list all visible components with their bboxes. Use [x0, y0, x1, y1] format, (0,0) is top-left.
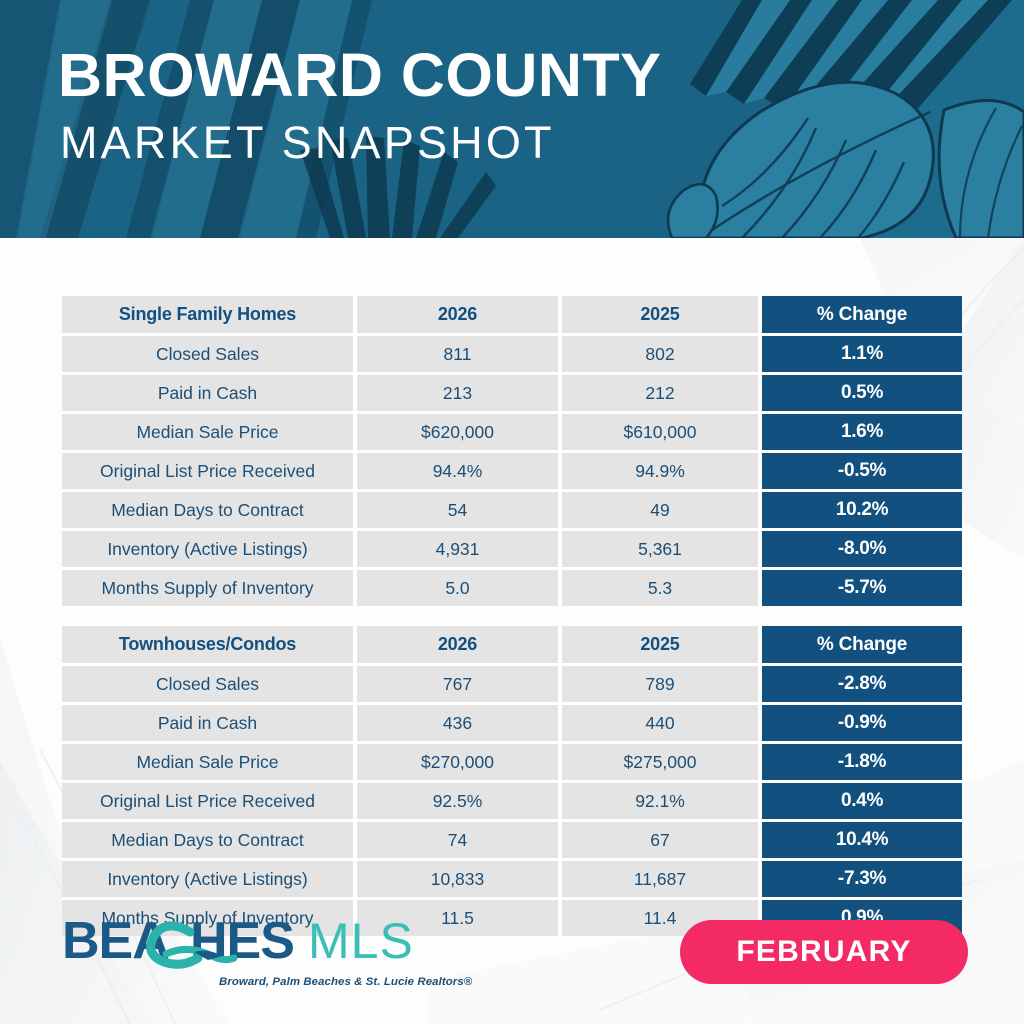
table-row: Paid in Cash 436 440 -0.9% [62, 705, 962, 744]
cell-2025: 67 [562, 822, 762, 861]
cell-2025: 802 [562, 336, 762, 375]
table-row: Original List Price Received 94.4% 94.9%… [62, 453, 962, 492]
cell-2026: 94.4% [357, 453, 562, 492]
table-single-family-homes: Single Family Homes 2026 2025 % Change C… [62, 296, 962, 606]
cell-2025: 49 [562, 492, 762, 531]
cell-pct-change: 1.6% [762, 414, 962, 453]
cell-pct-change: -0.5% [762, 453, 962, 492]
column-header-2026: 2026 [357, 626, 562, 666]
cell-2026: 5.0 [357, 570, 562, 606]
cell-pct-change: -2.8% [762, 666, 962, 705]
cell-pct-change: -5.7% [762, 570, 962, 606]
row-label: Paid in Cash [62, 705, 357, 744]
footer: BEA HES MLS Broward, Palm Beaches & St. … [0, 900, 1024, 1024]
column-header-2025: 2025 [562, 626, 762, 666]
cell-2026: 92.5% [357, 783, 562, 822]
cell-2025: $610,000 [562, 414, 762, 453]
table-row: Inventory (Active Listings) 4,931 5,361 … [62, 531, 962, 570]
cell-2025: $275,000 [562, 744, 762, 783]
page-subtitle: MARKET SNAPSHOT [60, 120, 661, 165]
row-label: Paid in Cash [62, 375, 357, 414]
column-header-2025: 2025 [562, 296, 762, 336]
table-header-row: Single Family Homes 2026 2025 % Change [62, 296, 962, 336]
cell-pct-change: -7.3% [762, 861, 962, 900]
row-label: Closed Sales [62, 336, 357, 375]
cell-2026: 10,833 [357, 861, 562, 900]
table-row: Original List Price Received 92.5% 92.1%… [62, 783, 962, 822]
page-title: BROWARD COUNTY [58, 44, 661, 106]
cell-2026: 767 [357, 666, 562, 705]
column-header-2026: 2026 [357, 296, 562, 336]
cell-2025: 440 [562, 705, 762, 744]
row-label: Median Sale Price [62, 744, 357, 783]
cell-2025: 94.9% [562, 453, 762, 492]
cell-2026: 54 [357, 492, 562, 531]
table-row: Median Sale Price $620,000 $610,000 1.6% [62, 414, 962, 453]
month-badge[interactable]: FEBRUARY [680, 920, 968, 984]
table-row: Median Days to Contract 74 67 10.4% [62, 822, 962, 861]
cell-2026: 4,931 [357, 531, 562, 570]
beaches-mls-logo: BEA HES MLS Broward, Palm Beaches & St. … [62, 914, 482, 1000]
row-label: Inventory (Active Listings) [62, 531, 357, 570]
cell-2026: $270,000 [357, 744, 562, 783]
table-row: Closed Sales 767 789 -2.8% [62, 666, 962, 705]
cell-pct-change: 0.5% [762, 375, 962, 414]
row-label: Median Days to Contract [62, 822, 357, 861]
cell-pct-change: 10.4% [762, 822, 962, 861]
cell-2025: 11,687 [562, 861, 762, 900]
cell-2025: 212 [562, 375, 762, 414]
cell-2026: 436 [357, 705, 562, 744]
row-label: Median Days to Contract [62, 492, 357, 531]
market-tables: Single Family Homes 2026 2025 % Change C… [62, 296, 962, 936]
cell-2026: 811 [357, 336, 562, 375]
row-label: Months Supply of Inventory [62, 570, 357, 606]
cell-2026: $620,000 [357, 414, 562, 453]
cell-2026: 213 [357, 375, 562, 414]
row-label: Median Sale Price [62, 414, 357, 453]
table-title-cell: Townhouses/Condos [62, 626, 357, 666]
cell-2025: 789 [562, 666, 762, 705]
month-badge-label: FEBRUARY [736, 935, 911, 969]
cell-2025: 5,361 [562, 531, 762, 570]
table-row: Median Days to Contract 54 49 10.2% [62, 492, 962, 531]
logo-tagline: Broward, Palm Beaches & St. Lucie Realto… [219, 976, 472, 988]
table-row: Paid in Cash 213 212 0.5% [62, 375, 962, 414]
table-title-cell: Single Family Homes [62, 296, 357, 336]
column-header-pct-change: % Change [762, 626, 962, 666]
page-canvas: BROWARD COUNTY MARKET SNAPSHOT Single Fa… [0, 0, 1024, 1024]
table-row: Months Supply of Inventory 5.0 5.3 -5.7% [62, 570, 962, 606]
cell-pct-change: -0.9% [762, 705, 962, 744]
svg-text:HES: HES [190, 914, 294, 970]
cell-pct-change: -1.8% [762, 744, 962, 783]
table-row: Inventory (Active Listings) 10,833 11,68… [62, 861, 962, 900]
row-label: Closed Sales [62, 666, 357, 705]
cell-pct-change: 10.2% [762, 492, 962, 531]
cell-2026: 74 [357, 822, 562, 861]
row-label: Inventory (Active Listings) [62, 861, 357, 900]
cell-pct-change: 0.4% [762, 783, 962, 822]
table-row: Closed Sales 811 802 1.1% [62, 336, 962, 375]
svg-text:MLS: MLS [308, 914, 414, 969]
cell-pct-change: -8.0% [762, 531, 962, 570]
column-header-pct-change: % Change [762, 296, 962, 336]
cell-2025: 92.1% [562, 783, 762, 822]
table-header-row: Townhouses/Condos 2026 2025 % Change [62, 626, 962, 666]
cell-pct-change: 1.1% [762, 336, 962, 375]
row-label: Original List Price Received [62, 783, 357, 822]
header-text-block: BROWARD COUNTY MARKET SNAPSHOT [58, 44, 661, 165]
row-label: Original List Price Received [62, 453, 357, 492]
table-townhouses-condos: Townhouses/Condos 2026 2025 % Change Clo… [62, 626, 962, 936]
beaches-mls-wordmark-icon: BEA HES MLS [62, 914, 482, 976]
table-row: Median Sale Price $270,000 $275,000 -1.8… [62, 744, 962, 783]
cell-2025: 5.3 [562, 570, 762, 606]
header-banner: BROWARD COUNTY MARKET SNAPSHOT [0, 0, 1024, 238]
